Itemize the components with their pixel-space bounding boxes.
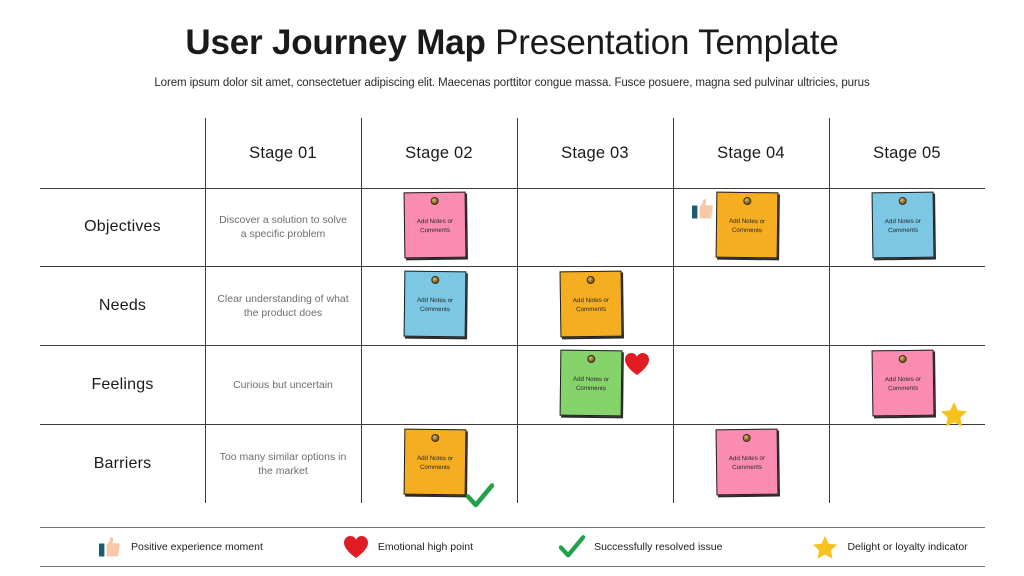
grid-header-row: Stage 01 Stage 02 Stage 03 Stage 04 Stag… bbox=[40, 118, 985, 188]
pin-icon bbox=[587, 275, 595, 283]
cell-feelings-stage04[interactable] bbox=[673, 345, 829, 424]
sticky-note-text: Add Notes or Comments bbox=[561, 296, 621, 314]
pin-icon bbox=[431, 275, 439, 283]
cell-text: Too many similar options in the market bbox=[205, 450, 361, 478]
cell-barriers-stage01[interactable]: Too many similar options in the market bbox=[205, 424, 361, 503]
legend-item: Delight or loyalty indicator bbox=[812, 528, 967, 566]
legend-item: Emotional high point bbox=[343, 528, 473, 566]
sticky-note-body[interactable]: Add Notes or Comments bbox=[716, 428, 779, 495]
page-title-light: Presentation Template bbox=[495, 23, 838, 62]
thumbs-up-icon bbox=[692, 198, 713, 220]
cell-text: Clear understanding of what the product … bbox=[205, 292, 361, 320]
cell-needs-stage02[interactable]: Add Notes or Comments bbox=[361, 266, 517, 345]
sticky-note-body[interactable]: Add Notes or Comments bbox=[560, 349, 623, 416]
table-row: Needs Clear understanding of what the pr… bbox=[40, 266, 985, 345]
stage-header-5: Stage 05 bbox=[829, 118, 985, 188]
pin-icon bbox=[899, 354, 907, 362]
sticky-note-body[interactable]: Add Notes or Comments bbox=[404, 428, 467, 495]
cell-barriers-stage02[interactable]: Add Notes or Comments bbox=[361, 424, 517, 503]
pin-icon bbox=[743, 197, 751, 205]
sticky-note-body[interactable]: Add Notes or Comments bbox=[716, 192, 779, 259]
cell-needs-stage03[interactable]: Add Notes or Comments bbox=[517, 266, 673, 345]
sticky-note[interactable]: Add Notes or Comments bbox=[716, 192, 786, 262]
sticky-note[interactable]: Add Notes or Comments bbox=[404, 192, 474, 262]
slide-canvas: User Journey Map Presentation Template L… bbox=[0, 0, 1024, 576]
pin-icon bbox=[899, 197, 907, 205]
sticky-note-body[interactable]: Add Notes or Comments bbox=[404, 192, 467, 259]
cell-objectives-stage02[interactable]: Add Notes or Comments bbox=[361, 188, 517, 266]
cell-objectives-stage01[interactable]: Discover a solution to solve a specific … bbox=[205, 188, 361, 266]
cell-feelings-stage01[interactable]: Curious but uncertain bbox=[205, 345, 361, 424]
legend-item-label: Delight or loyalty indicator bbox=[847, 541, 967, 553]
cell-needs-stage04[interactable] bbox=[673, 266, 829, 345]
cell-text: Discover a solution to solve a specific … bbox=[205, 213, 361, 241]
check-icon bbox=[559, 534, 585, 560]
sticky-note-body[interactable]: Add Notes or Comments bbox=[872, 192, 935, 259]
sticky-note[interactable]: Add Notes or Comments bbox=[560, 271, 630, 341]
cell-barriers-stage05[interactable] bbox=[829, 424, 985, 503]
cell-feelings-stage05[interactable]: Add Notes or Comments bbox=[829, 345, 985, 424]
pin-icon bbox=[431, 197, 439, 205]
row-label: Needs bbox=[99, 297, 146, 315]
stage-header-label: Stage 04 bbox=[717, 144, 785, 163]
sticky-note-text: Add Notes or Comments bbox=[561, 375, 621, 393]
sticky-note[interactable]: Add Notes or Comments bbox=[560, 350, 630, 420]
sticky-note[interactable]: Add Notes or Comments bbox=[404, 271, 474, 341]
sticky-note-body[interactable]: Add Notes or Comments bbox=[872, 349, 935, 416]
row-label: Barriers bbox=[94, 455, 152, 473]
legend-item: Positive experience moment bbox=[96, 528, 263, 566]
cell-objectives-stage03[interactable] bbox=[517, 188, 673, 266]
sticky-note-text: Add Notes or Comments bbox=[717, 218, 777, 236]
sticky-note[interactable]: Add Notes or Comments bbox=[404, 429, 474, 499]
cell-feelings-stage03[interactable]: Add Notes or Comments bbox=[517, 345, 673, 424]
star-icon bbox=[812, 534, 838, 561]
sticky-note-text: Add Notes or Comments bbox=[405, 296, 465, 314]
sticky-note[interactable]: Add Notes or Comments bbox=[872, 192, 942, 262]
legend-item-label: Emotional high point bbox=[378, 541, 473, 553]
thumbs-up-icon bbox=[96, 536, 122, 558]
pin-icon bbox=[587, 354, 595, 362]
legend-item: Successfully resolved issue bbox=[559, 528, 722, 566]
sticky-note-text: Add Notes or Comments bbox=[873, 375, 933, 393]
sticky-note-text: Add Notes or Comments bbox=[873, 218, 933, 236]
stage-header-4: Stage 04 bbox=[673, 118, 829, 188]
cell-objectives-stage04[interactable]: Add Notes or Comments bbox=[673, 188, 829, 266]
sticky-note-text: Add Notes or Comments bbox=[405, 218, 465, 236]
stage-header-label: Stage 03 bbox=[561, 144, 629, 163]
stage-header-label: Stage 01 bbox=[249, 144, 317, 163]
stage-header-label: Stage 05 bbox=[873, 144, 941, 163]
sticky-note-body[interactable]: Add Notes or Comments bbox=[404, 270, 467, 337]
table-row: Objectives Discover a solution to solve … bbox=[40, 188, 985, 266]
row-label-cell: Needs bbox=[40, 266, 205, 345]
row-label: Feelings bbox=[91, 376, 153, 394]
legend-item-label: Positive experience moment bbox=[131, 541, 263, 553]
sticky-note-text: Add Notes or Comments bbox=[717, 454, 777, 472]
cell-needs-stage05[interactable] bbox=[829, 266, 985, 345]
heart-icon bbox=[624, 352, 650, 376]
table-row: Barriers Too many similar options in the… bbox=[40, 424, 985, 503]
stage-header-1: Stage 01 bbox=[205, 118, 361, 188]
heart-icon bbox=[343, 535, 369, 559]
pin-icon bbox=[431, 433, 439, 441]
cell-feelings-stage02[interactable] bbox=[361, 345, 517, 424]
slide-header: User Journey Map Presentation Template L… bbox=[0, 22, 1024, 91]
cell-barriers-stage04[interactable]: Add Notes or Comments bbox=[673, 424, 829, 503]
table-row: Feelings Curious but uncertain Add Notes… bbox=[40, 345, 985, 424]
cell-needs-stage01[interactable]: Clear understanding of what the product … bbox=[205, 266, 361, 345]
stage-header-3: Stage 03 bbox=[517, 118, 673, 188]
page-title-bold: User Journey Map bbox=[185, 23, 485, 62]
stage-header-2: Stage 02 bbox=[361, 118, 517, 188]
pin-icon bbox=[743, 433, 751, 441]
cell-text: Curious but uncertain bbox=[223, 378, 343, 392]
sticky-note[interactable]: Add Notes or Comments bbox=[716, 429, 786, 499]
sticky-note-text: Add Notes or Comments bbox=[405, 454, 465, 472]
sticky-note[interactable]: Add Notes or Comments bbox=[872, 350, 942, 420]
row-label-cell: Feelings bbox=[40, 345, 205, 424]
grid-corner-cell bbox=[40, 118, 205, 188]
cell-barriers-stage03[interactable] bbox=[517, 424, 673, 503]
page-subtitle: Lorem ipsum dolor sit amet, consectetuer… bbox=[0, 76, 1024, 91]
page-title: User Journey Map Presentation Template bbox=[0, 22, 1024, 64]
row-label-cell: Barriers bbox=[40, 424, 205, 503]
legend-item-label: Successfully resolved issue bbox=[594, 541, 722, 553]
cell-objectives-stage05[interactable]: Add Notes or Comments bbox=[829, 188, 985, 266]
legend: Positive experience moment Emotional hig… bbox=[40, 527, 985, 567]
row-label-cell: Objectives bbox=[40, 188, 205, 266]
row-label: Objectives bbox=[84, 218, 161, 236]
check-icon bbox=[466, 483, 494, 509]
journey-map-grid: Stage 01 Stage 02 Stage 03 Stage 04 Stag… bbox=[40, 118, 985, 503]
sticky-note-body[interactable]: Add Notes or Comments bbox=[560, 270, 623, 337]
stage-header-label: Stage 02 bbox=[405, 144, 473, 163]
